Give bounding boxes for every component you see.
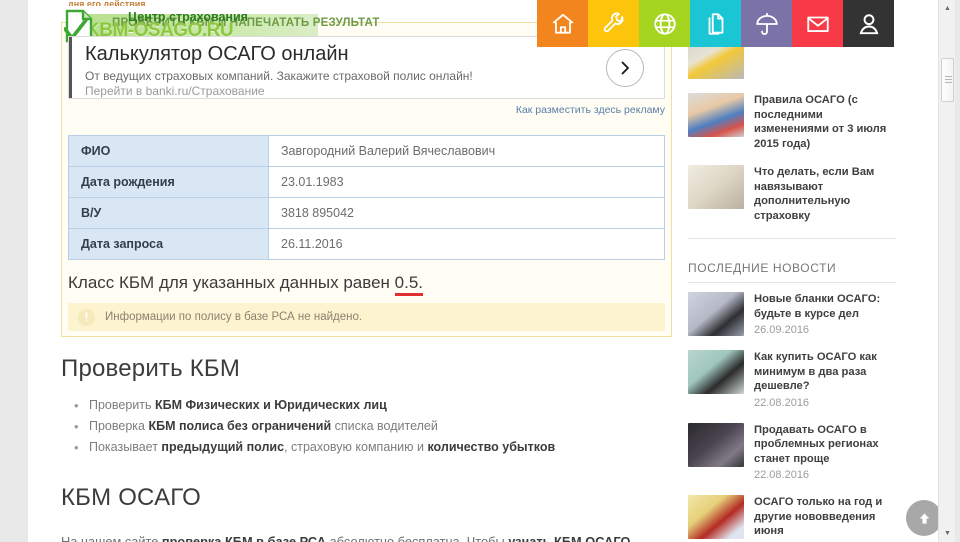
list-item-pre: Показывает <box>89 440 161 454</box>
list-item[interactable]: Новые бланки ОСАГО: будьте в курсе дел 2… <box>688 285 896 343</box>
nav-tile-services[interactable] <box>588 0 639 47</box>
exclamation-icon: ! <box>78 309 95 326</box>
main-content: Проверить КБМ Проверить КБМ Физических и… <box>61 355 676 542</box>
article-title: Правила ОСАГО (с последними изменениями … <box>754 93 896 151</box>
kbm-result-value: 0.5. <box>395 273 423 296</box>
clipped-top-text: дня его действия <box>68 0 146 6</box>
list-item-bold: КБМ полиса без ограничений <box>148 419 331 433</box>
nav-tile-documents[interactable] <box>690 0 741 47</box>
kbm-result-prefix: Класс КБМ для указанных данных равен <box>68 273 395 292</box>
list-item-bold: предыдущий полис <box>161 440 284 454</box>
documents-icon <box>703 11 729 37</box>
sidebar-divider <box>688 238 896 239</box>
user-icon <box>856 11 882 37</box>
news-thumbnail <box>688 495 744 539</box>
feature-list: Проверить КБМ Физических и Юридических л… <box>61 395 676 458</box>
home-icon <box>550 11 576 37</box>
list-item-bold: КБМ Физических и Юридических лиц <box>155 398 387 412</box>
chevron-right-icon <box>617 60 633 76</box>
news-title: Новые бланки ОСАГО: будьте в курсе дел <box>754 292 896 321</box>
table-value-birthdate: 23.01.1983 <box>269 167 665 198</box>
rsa-notice-text: Информации по полису в базе РСА не найде… <box>105 311 362 323</box>
list-item[interactable]: Что делать, если Вам навязывают дополнит… <box>688 158 896 230</box>
table-row: В/У 3818 895042 <box>69 198 665 229</box>
sidebar-heading-rule <box>688 282 896 283</box>
ad-description-url: Перейти в banki.ru/Страхование <box>85 84 265 98</box>
wrench-icon <box>601 11 627 37</box>
rsa-notice-bar: ! Информации по полису в базе РСА не най… <box>68 303 665 331</box>
article-thumbnail <box>688 93 744 137</box>
nav-tile-online[interactable] <box>639 0 690 47</box>
vertical-scrollbar[interactable]: ▲ ▼ <box>938 0 955 542</box>
news-body: ОСАГО только на год и другие нововведени… <box>754 495 896 542</box>
scroll-down-arrow-icon[interactable]: ▼ <box>939 525 956 542</box>
list-item: Проверка КБМ полиса без ограничений спис… <box>61 416 676 437</box>
list-item-pre: Проверить <box>89 398 155 412</box>
sidebar-news-heading: ПОСЛЕДНИЕ НОВОСТИ <box>688 261 896 275</box>
table-label-requestdate: Дата запроса <box>69 229 269 260</box>
table-label-license: В/У <box>69 198 269 229</box>
news-title: Продавать ОСАГО в проблемных регионах ст… <box>754 423 896 467</box>
paragraph-bold-2: узнать КБМ ОСАГО <box>508 534 630 542</box>
place-ad-link-wrap: Как разместить здесь рекламу <box>68 104 665 116</box>
scrollbar-thumb[interactable] <box>941 58 954 102</box>
news-body: Продавать ОСАГО в проблемных регионах ст… <box>754 423 896 482</box>
news-title: ОСАГО только на год и другие нововведени… <box>754 495 896 539</box>
globe-icon <box>652 11 678 37</box>
article-title: Что делать, если Вам навязывают дополнит… <box>754 165 896 223</box>
ad-accent-bar <box>69 37 72 98</box>
intro-paragraph: На нашем сайте проверка КБМ в базе РСА а… <box>61 532 676 542</box>
nav-tile-profile[interactable] <box>843 0 894 47</box>
heading-kbm-osago: КБМ ОСАГО <box>61 484 676 512</box>
browser-viewport: дня его действия ПРОВЕРИТЬ КБМ И НАПЕЧАТ… <box>0 0 960 542</box>
table-row: Дата рождения 23.01.1983 <box>69 167 665 198</box>
news-date: 26.09.2016 <box>754 324 896 336</box>
nav-tile-home[interactable] <box>537 0 588 47</box>
list-item[interactable]: Как купить ОСАГО как минимум в два раза … <box>688 343 896 416</box>
list-item: Показывает предыдущий полис, страховую к… <box>61 437 676 458</box>
news-body: Новые бланки ОСАГО: будьте в курсе дел 2… <box>754 292 896 336</box>
list-item-post: списка водителей <box>331 419 438 433</box>
paragraph-bold-1: проверка КБМ в базе РСА <box>162 534 326 542</box>
back-to-top-button[interactable] <box>906 500 942 536</box>
article-body: Что делать, если Вам навязывают дополнит… <box>754 165 896 223</box>
arrow-up-icon <box>917 511 932 526</box>
scrollbar-grip-icon <box>945 76 952 83</box>
list-item-post: , страховую компанию и <box>284 440 427 454</box>
ad-description: От ведущих страховых компаний. Закажите … <box>85 69 505 99</box>
table-row: Дата запроса 26.11.2016 <box>69 229 665 260</box>
news-thumbnail <box>688 350 744 394</box>
table-value-license: 3818 895042 <box>269 198 665 229</box>
list-item-pre: Проверка <box>89 419 148 433</box>
list-item-bold2: количество убытков <box>427 440 555 454</box>
nav-tile-insurance[interactable] <box>741 0 792 47</box>
news-thumbnail <box>688 292 744 336</box>
news-body: Как купить ОСАГО как минимум в два раза … <box>754 350 896 409</box>
news-title: Как купить ОСАГО как минимум в два раза … <box>754 350 896 394</box>
ad-description-main: От ведущих страховых компаний. Закажите … <box>85 69 473 83</box>
article-thumbnail <box>688 165 744 209</box>
ad-next-arrow-button[interactable] <box>606 49 644 87</box>
list-item[interactable]: Правила ОСАГО (с последними изменениями … <box>688 86 896 158</box>
article-body: Правила ОСАГО (с последними изменениями … <box>754 93 896 151</box>
umbrella-icon <box>754 11 780 37</box>
right-sidebar: ОСАГО Правила ОСАГО (с последними измене… <box>688 0 896 542</box>
top-icon-bar <box>537 0 894 47</box>
list-item[interactable]: Продавать ОСАГО в проблемных регионах ст… <box>688 416 896 489</box>
list-item: Проверить КБМ Физических и Юридических л… <box>61 395 676 416</box>
paragraph-pre: На нашем сайте <box>61 534 162 542</box>
kbm-result-line: Класс КБМ для указанных данных равен 0.5… <box>68 273 423 293</box>
news-date: 22.08.2016 <box>754 469 896 481</box>
kbm-data-table: ФИО Завгородний Валерий Вячеславович Дат… <box>68 135 665 260</box>
table-row: ФИО Завгородний Валерий Вячеславович <box>69 136 665 167</box>
news-thumbnail <box>688 423 744 467</box>
list-item[interactable]: ОСАГО только на год и другие нововведени… <box>688 488 896 542</box>
ad-title: Калькулятор ОСАГО онлайн <box>85 43 349 66</box>
table-value-fio: Завгородний Валерий Вячеславович <box>269 136 665 167</box>
news-date: 22.08.2016 <box>754 397 896 409</box>
paragraph-mid: абсолютно бесплатна. Чтобы <box>326 534 508 542</box>
nav-tile-mail[interactable] <box>792 0 843 47</box>
mail-icon <box>805 11 831 37</box>
scroll-up-arrow-icon[interactable]: ▲ <box>939 0 956 17</box>
table-value-requestdate: 26.11.2016 <box>269 229 665 260</box>
table-label-fio: ФИО <box>69 136 269 167</box>
place-ad-link[interactable]: Как разместить здесь рекламу <box>516 104 665 116</box>
table-label-birthdate: Дата рождения <box>69 167 269 198</box>
heading-check-kbm: Проверить КБМ <box>61 355 676 383</box>
